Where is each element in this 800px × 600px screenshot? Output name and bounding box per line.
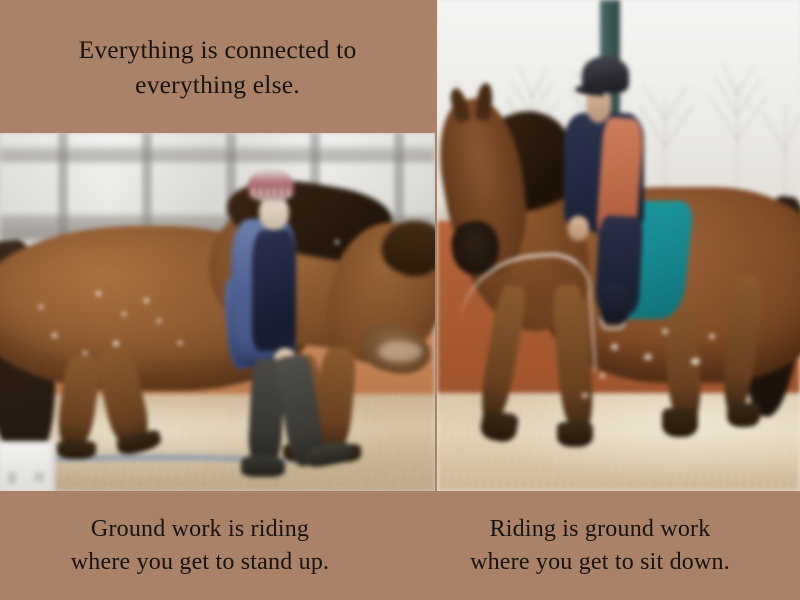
horse-nose-marking — [378, 341, 422, 362]
horse-hind-hoof-far — [57, 441, 96, 459]
snow-fleck — [122, 312, 126, 316]
handler-hat-stripe — [248, 188, 294, 197]
photo-riding — [437, 0, 800, 491]
bottom-left-line-1: Ground work is riding — [91, 513, 309, 546]
rider-boot — [600, 285, 629, 324]
snow-fleck — [113, 341, 119, 346]
sand-spray — [582, 393, 588, 398]
sand-spray — [611, 344, 618, 350]
bottom-right-line-1: Riding is ground work — [490, 513, 711, 546]
bottom-caption-bar: Ground work is riding where you get to s… — [0, 491, 800, 600]
horse-fore-hoof-far — [557, 422, 593, 447]
handler-boot-left — [241, 455, 285, 476]
bottom-left-line-2: where you get to stand up. — [71, 546, 329, 579]
handler-jacket — [252, 230, 296, 352]
rider-hand — [568, 216, 590, 241]
bottom-caption-right: Riding is ground work where you get to s… — [400, 491, 800, 600]
top-caption-line-1: Everything is connected to — [79, 32, 357, 67]
snow-fleck — [96, 291, 101, 296]
poster-canvas: Everything is connected to everything el… — [0, 0, 800, 600]
sand-spray — [644, 354, 652, 360]
snow-fleck — [144, 298, 149, 303]
arena-box-label — [8, 473, 16, 484]
arena-upper-rail — [0, 147, 435, 161]
top-caption-line-2: everything else. — [135, 67, 300, 102]
arena-box-label-2 — [34, 473, 44, 482]
horse-hind-hoof-near — [662, 408, 698, 437]
snow-fleck — [39, 305, 43, 309]
horse-hind-hoof-far — [727, 403, 760, 428]
photo-ground-work — [0, 133, 435, 491]
handler-face — [259, 197, 289, 229]
top-caption-box: Everything is connected to everything el… — [0, 0, 435, 133]
bottom-caption-left: Ground work is riding where you get to s… — [0, 491, 400, 600]
sand-spray — [662, 329, 668, 334]
snow-fleck — [157, 319, 161, 323]
bottom-right-line-2: where you get to sit down. — [470, 546, 730, 579]
